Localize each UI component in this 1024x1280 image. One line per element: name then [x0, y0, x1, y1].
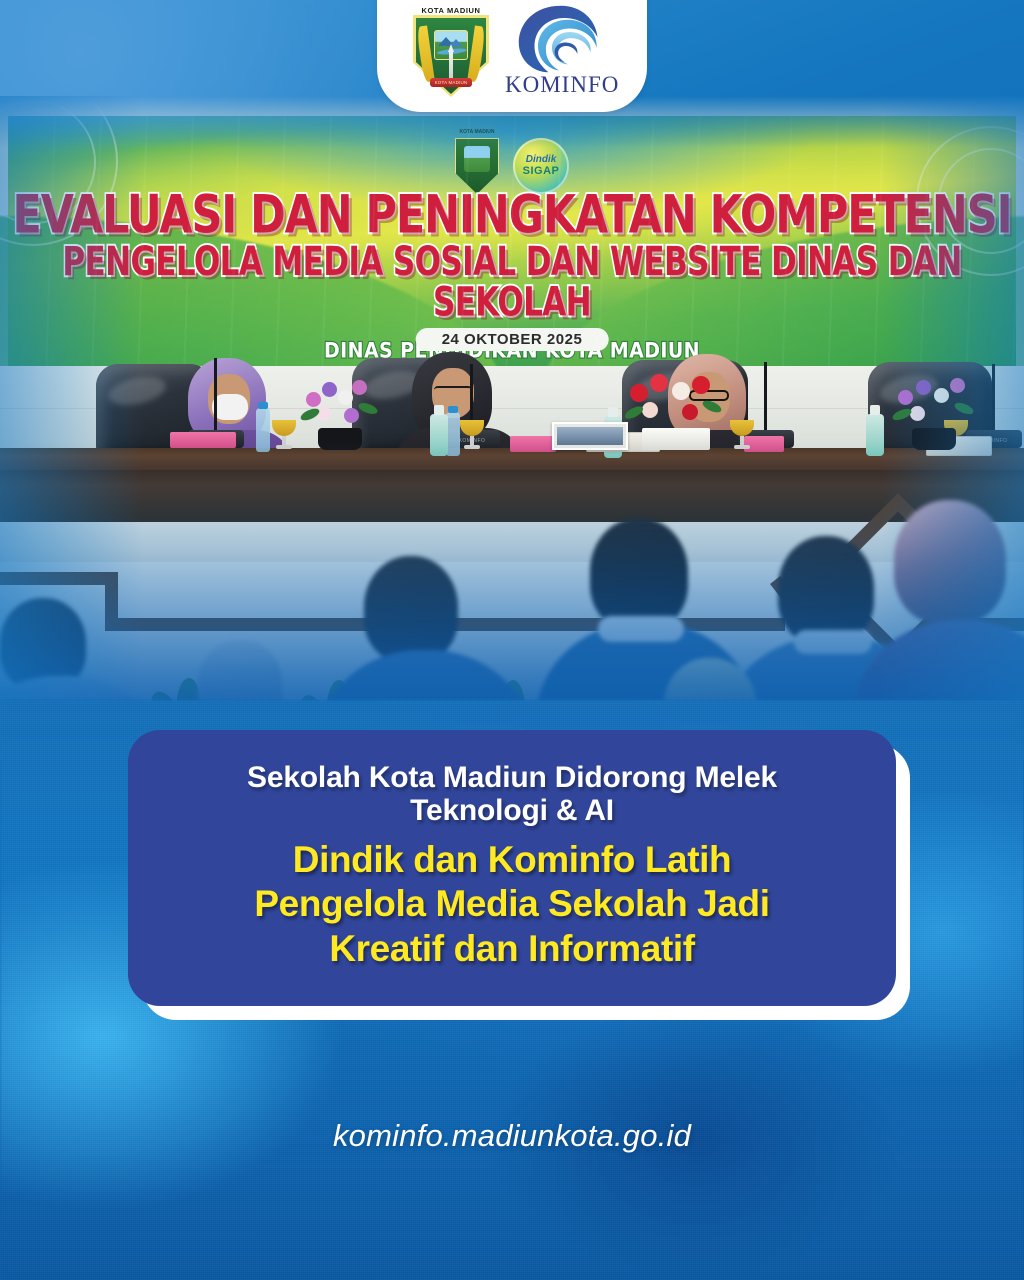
bouquet-right	[892, 376, 978, 434]
event-photo: KOTA MADIUN Dindik SIGAP EVALUASI DAN PE…	[0, 96, 1024, 760]
goblet-foot-1	[276, 445, 292, 449]
leaf	[891, 407, 913, 423]
flower	[344, 408, 359, 423]
flower	[682, 404, 698, 420]
caption-subtitle-line2: Teknologi & AI	[410, 794, 614, 828]
water-bottle-2	[446, 412, 460, 456]
goblet-cup-2	[460, 420, 484, 436]
audience-collar	[598, 616, 684, 642]
table-photo-frame	[552, 422, 628, 450]
pink-box-2	[510, 436, 556, 452]
header-logo-panel: KOTA MADIUN KOTA MADIUN	[377, 0, 647, 112]
audience-collar	[794, 630, 872, 654]
banner-crest-scene	[464, 146, 490, 172]
flower	[306, 392, 321, 407]
flower	[650, 374, 668, 392]
goblet-stem-1	[282, 436, 286, 445]
event-backdrop-banner: KOTA MADIUN Dindik SIGAP EVALUASI DAN PE…	[8, 116, 1016, 366]
banner-ring-decor-1	[0, 96, 118, 246]
flower-pot-right	[912, 428, 956, 450]
banner-sigap-top: Dindik	[526, 155, 557, 165]
speaker-center-glasses	[434, 386, 472, 396]
flower-arrangement-red	[626, 382, 726, 450]
goblet-3	[730, 420, 754, 450]
audience-head	[364, 556, 458, 662]
banner-headline-line1: EVALUASI DAN PENINGKATAN KOMPETENSI	[0, 189, 1024, 242]
goblet-foot-3	[734, 445, 750, 449]
goblet-cup-3	[730, 420, 754, 436]
goblet-stem-3	[740, 436, 744, 445]
banner-organizer: DINAS PENDIDIKAN KOTA MADIUN	[8, 339, 1016, 364]
goblet-foot-2	[464, 445, 480, 449]
flower	[642, 402, 658, 418]
banner-ring-decor-3	[916, 126, 1024, 276]
flower	[692, 376, 710, 394]
goblet-2	[460, 420, 484, 450]
goblet-stem-2	[470, 436, 474, 445]
leaf	[357, 401, 379, 416]
caption-card-wrapper: Sekolah Kota Madiun Didorong Melek Tekno…	[128, 730, 910, 1020]
banner-event-date: 24 OKTOBER 2025	[416, 328, 609, 351]
header-logo-row: KOTA MADIUN KOTA MADIUN	[409, 4, 615, 112]
flower-pot-center	[318, 428, 362, 450]
head-table-front	[0, 470, 1024, 522]
banner-text-block: EVALUASI DAN PENINGKATAN KOMPETENSI PENG…	[8, 194, 1016, 362]
goblet-1	[272, 420, 296, 450]
kominfo-logo: KOMINFO	[505, 4, 615, 100]
flower-arrangement-center	[300, 388, 380, 450]
hand-sanitizer-1	[430, 414, 448, 456]
kota-madiun-crest-icon: KOTA MADIUN KOTA MADIUN	[409, 4, 493, 100]
leaf	[701, 398, 723, 414]
audience-head	[778, 536, 874, 644]
caption-subtitle-line1: Sekolah Kota Madiun Didorong Melek	[247, 761, 777, 795]
banner-headline-line2: PENGELOLA MEDIA SOSIAL DAN WEBSITE DINAS…	[8, 243, 1016, 324]
goblet-cup-1	[272, 420, 296, 436]
audience-head	[894, 500, 1006, 624]
banner-ring-decor-2	[0, 100, 96, 224]
kominfo-wordmark: KOMINFO	[505, 72, 615, 98]
caption-headline-line3: Kreatif dan Informatif	[329, 927, 694, 971]
leaf	[953, 401, 975, 417]
bouquet-red	[626, 372, 726, 434]
flower	[338, 390, 353, 405]
flower	[916, 380, 931, 395]
flower	[352, 380, 367, 395]
banner-logo-row: KOTA MADIUN Dindik SIGAP	[8, 138, 1016, 194]
poster-canvas: KOTA MADIUN Dindik SIGAP EVALUASI DAN PE…	[0, 0, 1024, 1280]
caption-headline-line1: Dindik dan Kominfo Latih	[293, 838, 731, 882]
speaker-left-mask	[212, 394, 248, 420]
flower	[934, 388, 949, 403]
crest-ribbon-text: KOTA MADIUN	[430, 78, 472, 87]
banner-dindik-sigap-logo-icon: Dindik SIGAP	[513, 138, 569, 194]
caption-headline-line2: Pengelola Media Sekolah Jadi	[254, 882, 769, 926]
bouquet-center	[300, 376, 380, 434]
flower	[630, 384, 648, 402]
flower	[898, 390, 913, 405]
banner-crest-shield	[455, 138, 499, 194]
flower	[672, 382, 690, 400]
flower-box-white	[642, 428, 710, 450]
flower-arrangement-right	[892, 386, 978, 450]
water-bottle-1	[256, 408, 270, 452]
hand-sanitizer-2	[866, 414, 884, 456]
pink-box-1	[170, 432, 236, 448]
kominfo-swirl-icon	[515, 4, 603, 74]
crest-ribbon: KOTA MADIUN	[430, 78, 472, 87]
banner-kota-madiun-crest-icon: KOTA MADIUN	[455, 138, 499, 194]
audience-head	[590, 518, 688, 630]
footer-website-url[interactable]: kominfo.madiunkota.go.id	[0, 1118, 1024, 1154]
banner-ring-decor-4	[938, 148, 1024, 254]
flower	[322, 382, 337, 397]
banner-crest-label: KOTA MADIUN	[460, 129, 495, 135]
flower	[910, 406, 925, 421]
flower	[950, 378, 965, 393]
leaf	[299, 406, 321, 422]
caption-card: Sekolah Kota Madiun Didorong Melek Tekno…	[128, 730, 896, 1006]
banner-sigap-bottom: SIGAP	[523, 165, 560, 177]
crest-label: KOTA MADIUN	[421, 6, 480, 15]
